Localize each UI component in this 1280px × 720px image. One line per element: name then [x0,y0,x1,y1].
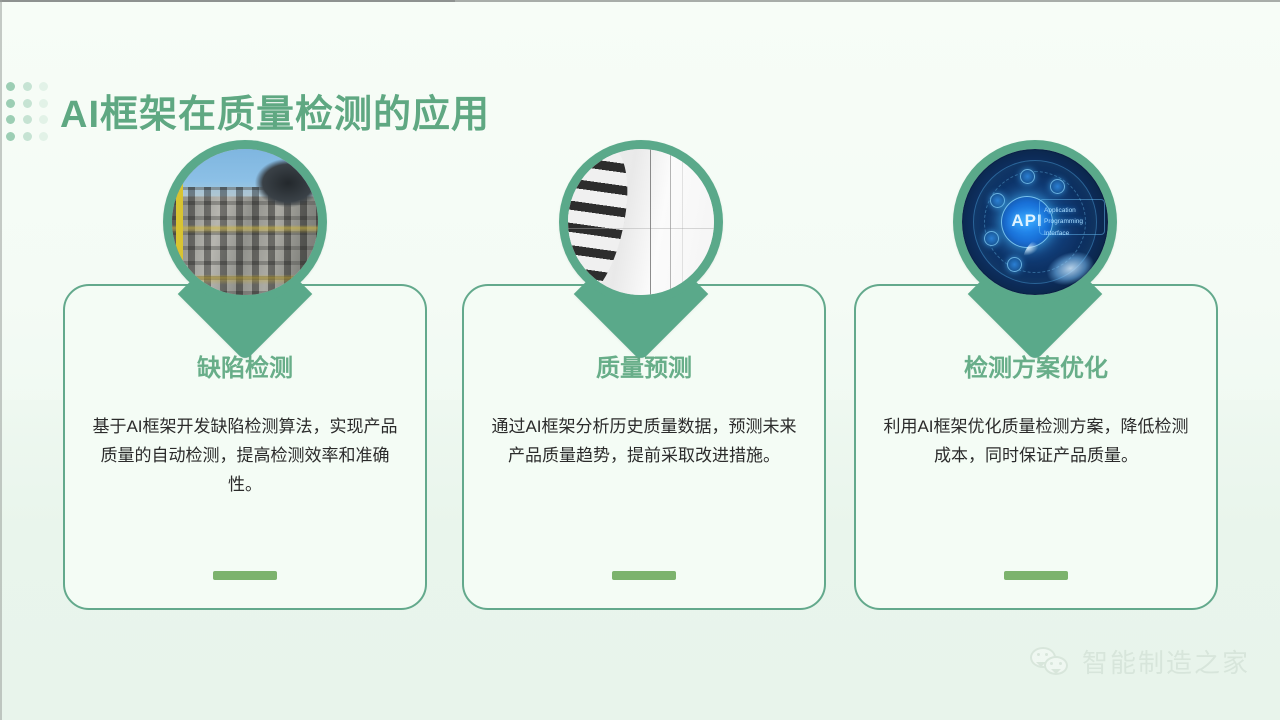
watermark: 智能制造之家 [1030,643,1250,680]
card-body: 利用AI框架优化质量检测方案，降低检测成本，同时保证产品质量。 [880,412,1192,470]
card-body: 基于AI框架开发缺陷检测算法，实现产品质量的自动检测，提高检测效率和准确性。 [89,412,401,500]
wechat-icon [1030,647,1070,677]
api-node-icon [1020,169,1035,184]
api-node-icon [990,193,1005,208]
card-group: 缺陷检测 基于AI框架开发缺陷检测算法，实现产品质量的自动检测，提高检测效率和准… [0,0,1280,720]
pin-marker-quality-prediction [559,140,723,336]
card-accent-bar [213,571,277,580]
api-node-icon [1050,179,1065,194]
api-node-icon [984,231,999,246]
pin-marker-defect-detection [163,140,327,336]
industrial-ladder-photo [568,149,714,295]
api-node-icon [1007,257,1022,272]
card-body: 通过AI框架分析历史质量数据，预测未来产品质量趋势，提前采取改进措施。 [488,412,800,470]
pin-marker-inspection-optimization: API Application Programming Interface [953,140,1117,336]
api-caption-line2: Programming [1044,216,1102,227]
construction-site-photo [172,149,318,295]
card-accent-bar [612,571,676,580]
watermark-text: 智能制造之家 [1082,643,1250,680]
api-technology-photo: API Application Programming Interface [962,149,1108,295]
card-accent-bar [1004,571,1068,580]
slide-canvas: AI框架在质量检测的应用 缺陷检测 基于AI框架开发缺陷检测算法，实现产品质量的… [0,0,1280,720]
api-caption-line1: Application [1044,205,1102,216]
